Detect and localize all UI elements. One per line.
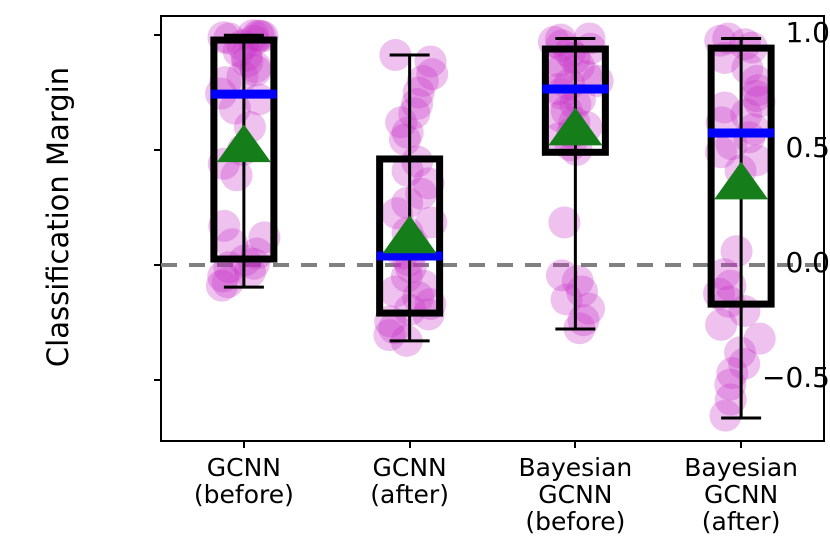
x-tick-label-line: (before) [485, 508, 665, 535]
x-tick-label-0: GCNN(before) [154, 454, 334, 508]
x-tick-label-line: GCNN [320, 454, 500, 481]
x-tick-label-1: GCNN(after) [320, 454, 500, 508]
y-tick-label-3: −0.5 [683, 361, 830, 394]
y-tick-label-0: 1.0 [683, 16, 830, 49]
x-tick-label-3: BayesianGCNN(after) [651, 454, 830, 535]
x-tick-label-line: GCNN [154, 454, 334, 481]
x-tick-mark-1 [409, 441, 411, 448]
y-tick-label-2: 0.0 [683, 246, 830, 279]
x-tick-label-line: GCNN [485, 481, 665, 508]
x-tick-label-2: BayesianGCNN(before) [485, 454, 665, 535]
data-point [705, 309, 737, 341]
x-tick-label-line: (after) [320, 481, 500, 508]
data-point [709, 400, 741, 432]
y-tick-label-1: 0.5 [683, 131, 830, 164]
classification-margin-boxplot-figure: Classification Margin 1.00.50.0−0.5GCNN(… [0, 0, 830, 554]
x-tick-label-line: Bayesian [651, 454, 830, 481]
x-tick-label-line: GCNN [651, 481, 830, 508]
x-tick-mark-3 [740, 441, 742, 448]
x-tick-label-line: Bayesian [485, 454, 665, 481]
x-tick-label-line: (before) [154, 481, 334, 508]
x-tick-mark-0 [243, 441, 245, 448]
x-tick-mark-2 [574, 441, 576, 448]
x-tick-label-line: (after) [651, 508, 830, 535]
